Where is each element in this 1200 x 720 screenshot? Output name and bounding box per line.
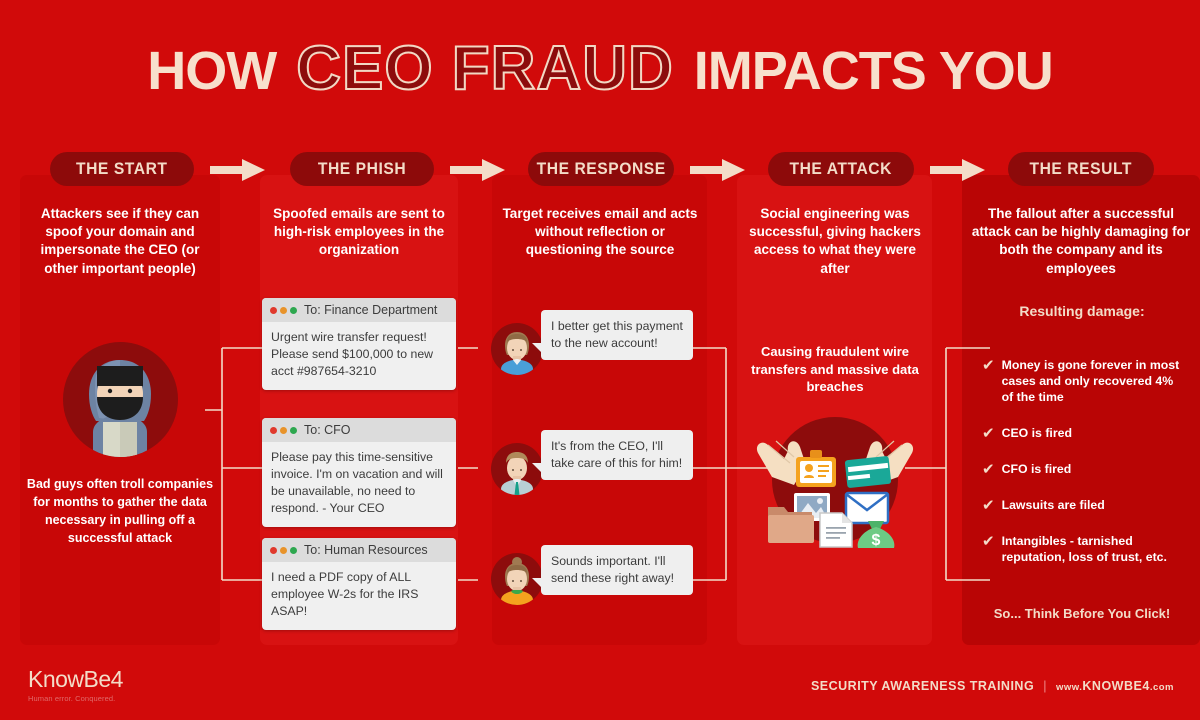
step-pill-label: THE RESPONSE — [536, 159, 665, 179]
footer-url-domain: KNOWBE4 — [1082, 679, 1149, 693]
check-icon: ✔ — [982, 358, 995, 374]
response-bubble-cfo: It's from the CEO, I'll take care of thi… — [541, 430, 693, 480]
email-recipient: To: Finance Department — [304, 303, 437, 317]
result-list-item: ✔ Lawsuits are filed — [982, 498, 1187, 514]
arrow-right-icon-2 — [450, 158, 506, 182]
result-item-label: Money is gone forever in most cases and … — [1002, 358, 1187, 406]
hacker-note: Bad guys often troll companies for month… — [20, 475, 220, 548]
check-icon: ✔ — [982, 426, 995, 442]
result-item-label: Lawsuits are filed — [1002, 498, 1105, 514]
step-desc-the-result: The fallout after a successful attack ca… — [968, 205, 1194, 278]
footer-url-www: www. — [1056, 682, 1082, 693]
credit-card-icon — [845, 456, 892, 488]
envelope-icon — [846, 493, 888, 523]
hooded-hacker-icon — [63, 342, 178, 457]
footer-training-label: SECURITY AWARENESS TRAINING — [811, 679, 1034, 693]
email-body: I need a PDF copy of ALL employee W-2s f… — [262, 562, 456, 630]
step-pill-label: THE ATTACK — [790, 159, 893, 179]
check-icon: ✔ — [982, 534, 995, 550]
result-item-label: Intangibles - tarnished reputation, loss… — [1002, 534, 1187, 566]
step-pill-the-attack[interactable]: THE ATTACK — [768, 152, 914, 186]
arrow-right-icon-3 — [690, 158, 746, 182]
step-pill-the-phish[interactable]: THE PHISH — [290, 152, 434, 186]
footer-right: SECURITY AWARENESS TRAINING | www.KNOWBE… — [811, 679, 1174, 693]
window-dots-icon — [270, 427, 297, 434]
email-header: To: CFO — [262, 418, 456, 442]
arrow-right-icon-1 — [210, 158, 266, 182]
result-list-item: ✔ Money is gone forever in most cases an… — [982, 358, 1187, 406]
attack-note: Causing fraudulent wire transfers and ma… — [742, 343, 928, 396]
knowbe4-logo[interactable]: KnowBe4 Human error. Conquered. — [28, 668, 123, 703]
step-pill-the-start[interactable]: THE START — [50, 152, 194, 186]
email-recipient: To: Human Resources — [304, 543, 428, 557]
response-bubble-hr: Sounds important. I'll send these right … — [541, 545, 693, 595]
hacker-avatar — [63, 342, 178, 457]
data-theft-illustration: $ — [750, 395, 920, 555]
window-dots-icon — [270, 307, 297, 314]
step-pill-label: THE START — [76, 159, 168, 179]
arrow-right-icon-4 — [930, 158, 986, 182]
email-card-hr[interactable]: To: Human Resources I need a PDF copy of… — [262, 538, 456, 630]
svg-text:$: $ — [872, 532, 881, 549]
email-header: To: Finance Department — [262, 298, 456, 322]
step-pill-the-response[interactable]: THE RESPONSE — [528, 152, 674, 186]
result-list-item: ✔ CEO is fired — [982, 426, 1187, 442]
email-body: Please pay this time-sensitive invoice. … — [262, 442, 456, 527]
step-desc-the-response: Target receives email and acts without r… — [500, 205, 700, 260]
step-desc-the-attack: Social engineering was successful, givin… — [742, 205, 928, 278]
email-card-finance[interactable]: To: Finance Department Urgent wire trans… — [262, 298, 456, 390]
footer-separator: | — [1043, 679, 1047, 693]
footer-url-tld: .com — [1150, 682, 1174, 693]
result-footer-cta: So... Think Before You Click! — [967, 606, 1197, 621]
result-list-item: ✔ Intangibles - tarnished reputation, lo… — [982, 534, 1187, 566]
footer-url[interactable]: www.KNOWBE4.com — [1056, 679, 1174, 693]
check-icon: ✔ — [982, 498, 995, 514]
email-recipient: To: CFO — [304, 423, 351, 437]
step-pill-label: THE RESULT — [1030, 159, 1133, 179]
email-body: Urgent wire transfer request! Please sen… — [262, 322, 456, 390]
window-dots-icon — [270, 547, 297, 554]
result-heading: Resulting damage: — [967, 303, 1197, 319]
step-pill-label: THE PHISH — [318, 159, 406, 179]
result-item-label: CFO is fired — [1002, 462, 1072, 478]
email-card-cfo[interactable]: To: CFO Please pay this time-sensitive i… — [262, 418, 456, 527]
step-pill-the-result[interactable]: THE RESULT — [1008, 152, 1154, 186]
document-icon — [820, 513, 852, 547]
step-desc-the-start: Attackers see if they can spoof your dom… — [28, 205, 212, 278]
infographic-root: HOW CEO FRAUD IMPACTS YOU — [0, 0, 1200, 720]
step-desc-the-phish: Spoofed emails are sent to high-risk emp… — [266, 205, 452, 260]
response-bubble-finance: I better get this payment to the new acc… — [541, 310, 693, 360]
check-icon: ✔ — [982, 462, 995, 478]
folder-icon — [768, 507, 814, 543]
result-item-label: CEO is fired — [1002, 426, 1072, 442]
knowbe4-tagline: Human error. Conquered. — [28, 694, 123, 703]
knowbe4-logo-text: KnowBe4 — [28, 668, 123, 691]
result-list-item: ✔ CFO is fired — [982, 462, 1187, 478]
result-list: ✔ Money is gone forever in most cases an… — [982, 358, 1187, 586]
email-header: To: Human Resources — [262, 538, 456, 562]
